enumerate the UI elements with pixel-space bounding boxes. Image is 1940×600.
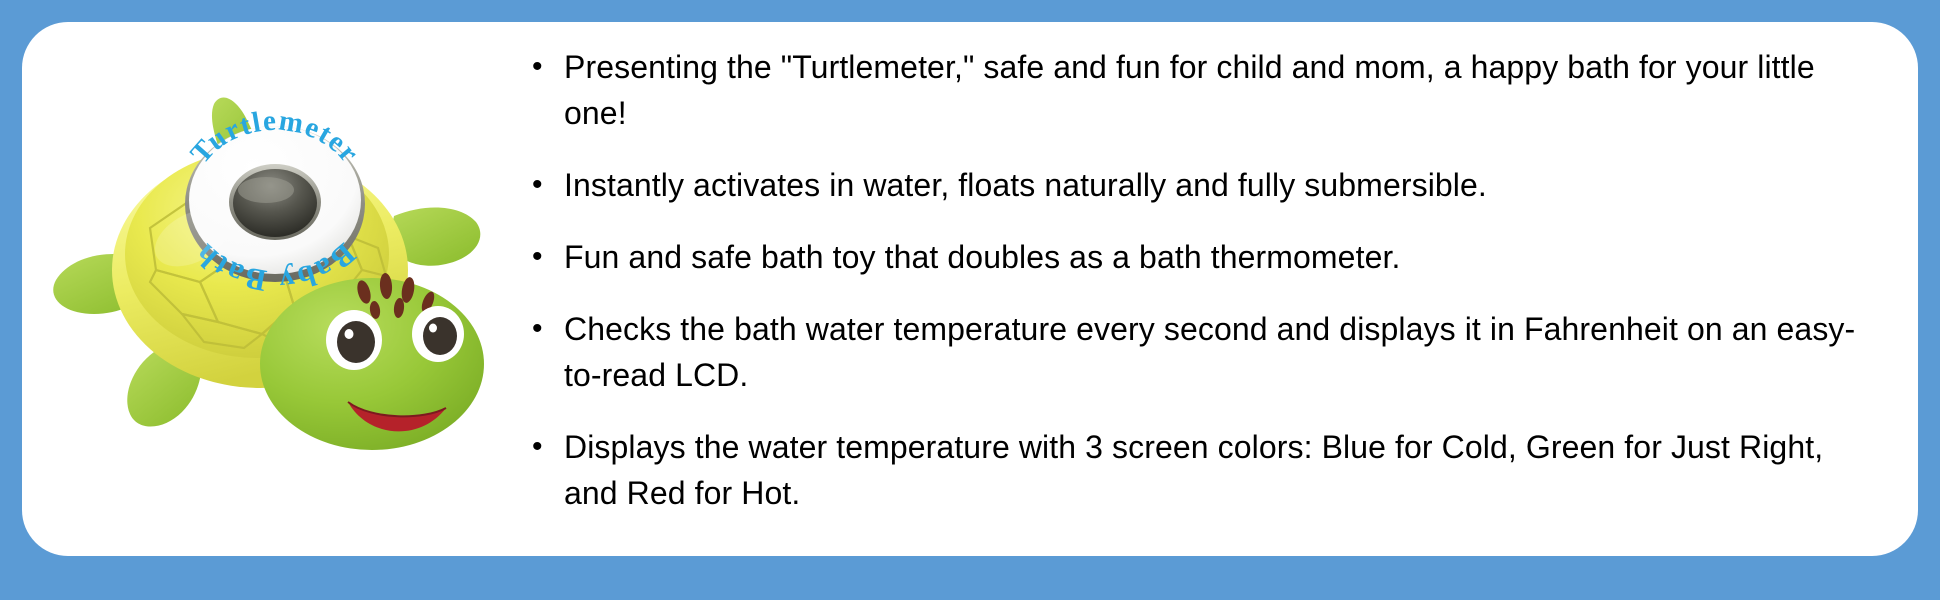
product-image-turtle-thermometer: Turtlemeter Baby Bath [42, 52, 522, 472]
bullet-icon: • [532, 162, 564, 208]
feature-text: Displays the water temperature with 3 sc… [564, 424, 1874, 516]
feature-item-1: • Presenting the "Turtlemeter," safe and… [532, 44, 1887, 136]
bullet-icon: • [532, 306, 564, 352]
feature-item-5: • Displays the water temperature with 3 … [532, 424, 1887, 516]
content-card: Turtlemeter Baby Bath • Presenting the "… [22, 22, 1918, 556]
turtle-right-eye [412, 306, 464, 362]
feature-item-3: • Fun and safe bath toy that doubles as … [532, 234, 1887, 280]
bullet-icon: • [532, 424, 564, 470]
bullet-icon: • [532, 234, 564, 280]
feature-text: Presenting the "Turtlemeter," safe and f… [564, 44, 1874, 136]
bullet-icon: • [532, 44, 564, 90]
feature-item-2: • Instantly activates in water, floats n… [532, 162, 1887, 208]
feature-bullet-list: • Presenting the "Turtlemeter," safe and… [532, 44, 1887, 534]
feature-item-4: • Checks the bath water temperature ever… [532, 306, 1887, 398]
feature-text: Instantly activates in water, floats nat… [564, 162, 1874, 208]
feature-text: Checks the bath water temperature every … [564, 306, 1874, 398]
turtle-left-eye [326, 310, 382, 370]
slide-frame: Turtlemeter Baby Bath • Presenting the "… [0, 0, 1940, 600]
feature-text: Fun and safe bath toy that doubles as a … [564, 234, 1874, 280]
